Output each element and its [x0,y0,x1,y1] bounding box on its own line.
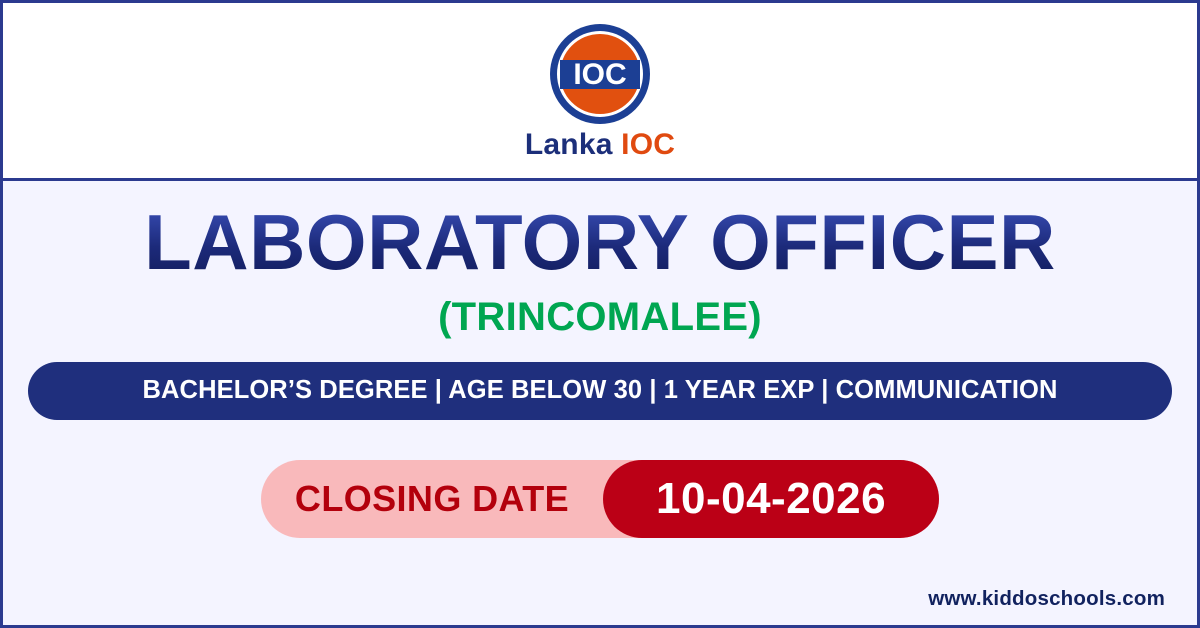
logo-header-band: IOC Lanka IOC [3,3,1197,181]
website-url: www.kiddoschools.com [928,587,1165,611]
closing-date-label: CLOSING DATE [295,478,603,520]
company-logo: IOC Lanka IOC [525,22,675,160]
job-vacancy-poster: IOC Lanka IOC LABORATORY OFFICER (TRINCO… [0,0,1200,628]
location-subtitle: (TRINCOMALEE) [438,295,762,340]
requirements-bar: BACHELOR’S DEGREE | AGE BELOW 30 | 1 YEA… [28,362,1172,420]
poster-body: LABORATORY OFFICER (TRINCOMALEE) BACHELO… [3,181,1197,625]
page-title: LABORATORY OFFICER [144,203,1056,283]
closing-date-value: 10-04-2026 [603,460,939,538]
logo-wordmark-ioc: IOC [621,128,675,161]
logo-wordmark: Lanka IOC [525,130,675,160]
ioc-logo-icon: IOC [541,22,659,126]
logo-wordmark-lanka: Lanka [525,128,613,161]
closing-date-pill: CLOSING DATE 10-04-2026 [261,460,939,538]
svg-text:IOC: IOC [573,58,626,91]
closing-date-row: CLOSING DATE 10-04-2026 [261,460,939,538]
